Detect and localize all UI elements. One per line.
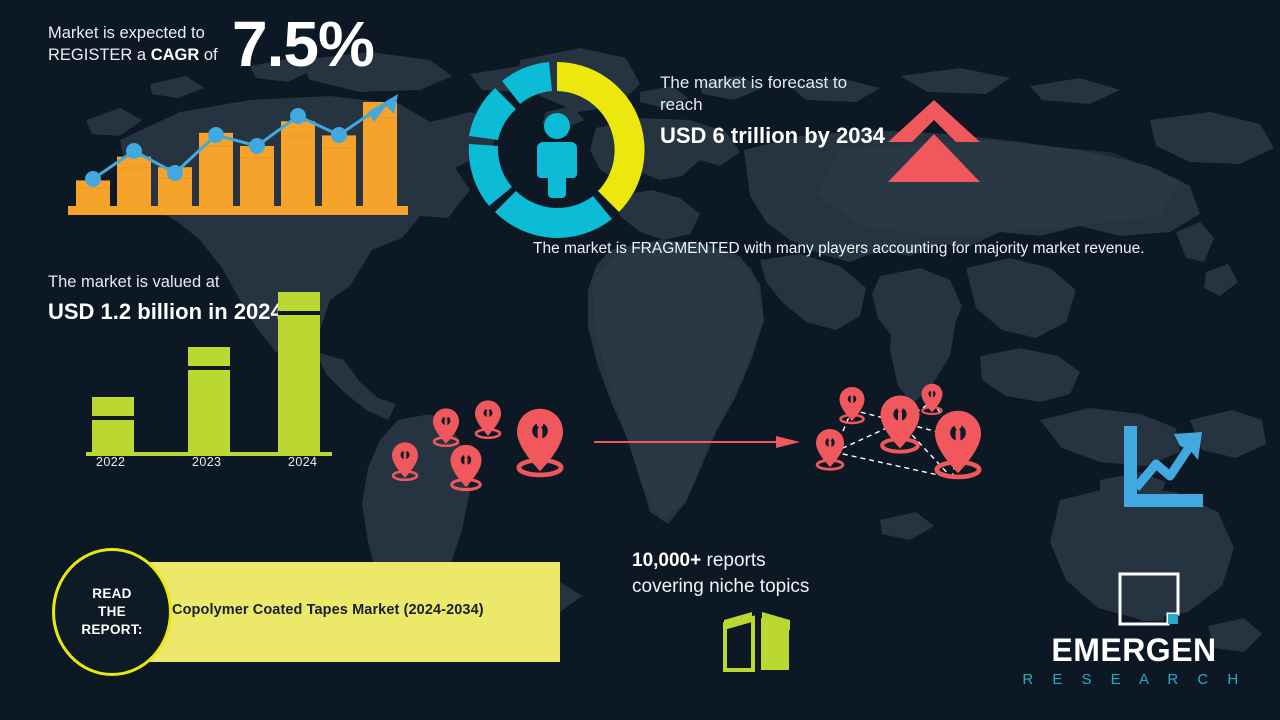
read-report-label: READTHEREPORT: <box>81 585 142 640</box>
forecast-value: USD 6 trillion by 2034 <box>660 122 890 150</box>
market-share-donut <box>462 55 652 245</box>
donut-segment-cyan-1 <box>495 191 612 238</box>
map-pin-cluster-right <box>800 380 1015 505</box>
forecast-caption: The market is forecast to reach <box>660 72 890 116</box>
person-icon <box>537 113 577 198</box>
reports-count-block: 10,000+ reports covering niche topics <box>632 548 912 600</box>
map-pin-3 <box>451 445 482 490</box>
reports-count-suffix: reports <box>701 550 765 571</box>
map-pin-cluster-left <box>378 382 588 497</box>
emergen-research-logo: EMERGEN R E S E A R C H <box>1018 572 1250 704</box>
infographic-canvas: Market is expected to REGISTER a CAGR of… <box>0 0 1280 720</box>
donut-segment-yellow <box>557 62 645 212</box>
map-pin-2 <box>922 384 943 414</box>
green-chart-xtick-2024: 2024 <box>288 455 317 469</box>
cagr-caption: Market is expected to REGISTER a CAGR of <box>48 22 253 67</box>
reports-line2: covering niche topics <box>632 574 912 600</box>
map-pin-2 <box>433 408 459 445</box>
right-arrow-icon <box>592 432 804 452</box>
cagr-caption-line2-pre: REGISTER a <box>48 46 151 64</box>
read-report-button[interactable]: READTHEREPORT: <box>52 548 172 676</box>
cagr-caption-line2: REGISTER a CAGR of <box>48 44 253 66</box>
map-pin-5 <box>517 409 563 475</box>
bar-series <box>92 292 320 452</box>
report-title: Copolymer Coated Tapes Market (2024-2034… <box>172 602 484 618</box>
cagr-value: 7.5% <box>232 12 374 76</box>
market-value-bar-chart-green <box>78 292 338 472</box>
map-pin-4 <box>475 400 501 437</box>
read-report-bar[interactable]: Copolymer Coated Tapes Market (2024-2034… <box>150 562 560 662</box>
green-chart-xtick-2023: 2023 <box>192 455 221 469</box>
growth-bar-chart-orange <box>68 88 408 220</box>
read-report-line3: REPORT: <box>81 622 142 637</box>
map-pin-5 <box>935 411 981 477</box>
forecast-block: The market is forecast to reach USD 6 tr… <box>660 72 890 150</box>
chart-baseline <box>68 206 408 215</box>
map-pin-4 <box>881 395 920 451</box>
donut-segment-cyan-4 <box>502 62 552 104</box>
cagr-caption-line1: Market is expected to <box>48 22 253 44</box>
donut-segment-cyan-3 <box>469 88 516 140</box>
green-chart-xtick-2022: 2022 <box>96 455 125 469</box>
logo-wordmark: EMERGEN <box>1018 634 1250 666</box>
bar-series <box>76 102 397 206</box>
fragmented-statement: The market is FRAGMENTED with many playe… <box>533 238 1233 260</box>
cagr-caption-line2-bold: CAGR <box>151 46 200 64</box>
donut-segment-cyan-2 <box>469 144 512 206</box>
market-value-caption: The market is valued at <box>48 272 328 293</box>
read-report-line1: READ <box>92 586 131 601</box>
map-pin-3 <box>816 429 844 469</box>
reports-line1: 10,000+ reports <box>632 548 912 574</box>
cagr-caption-line2-post: of <box>199 46 217 64</box>
reports-count: 10,000+ <box>632 550 701 571</box>
read-report-line2: THE <box>98 604 126 619</box>
map-pin-1 <box>840 387 865 423</box>
double-chevron-up-icon <box>884 96 984 186</box>
line-chart-up-icon <box>1118 424 1206 510</box>
open-book-icon <box>722 610 792 672</box>
map-pin-1 <box>392 442 418 479</box>
logo-subtitle: R E S E A R C H <box>1018 672 1250 687</box>
square-outline-icon <box>1118 572 1180 634</box>
